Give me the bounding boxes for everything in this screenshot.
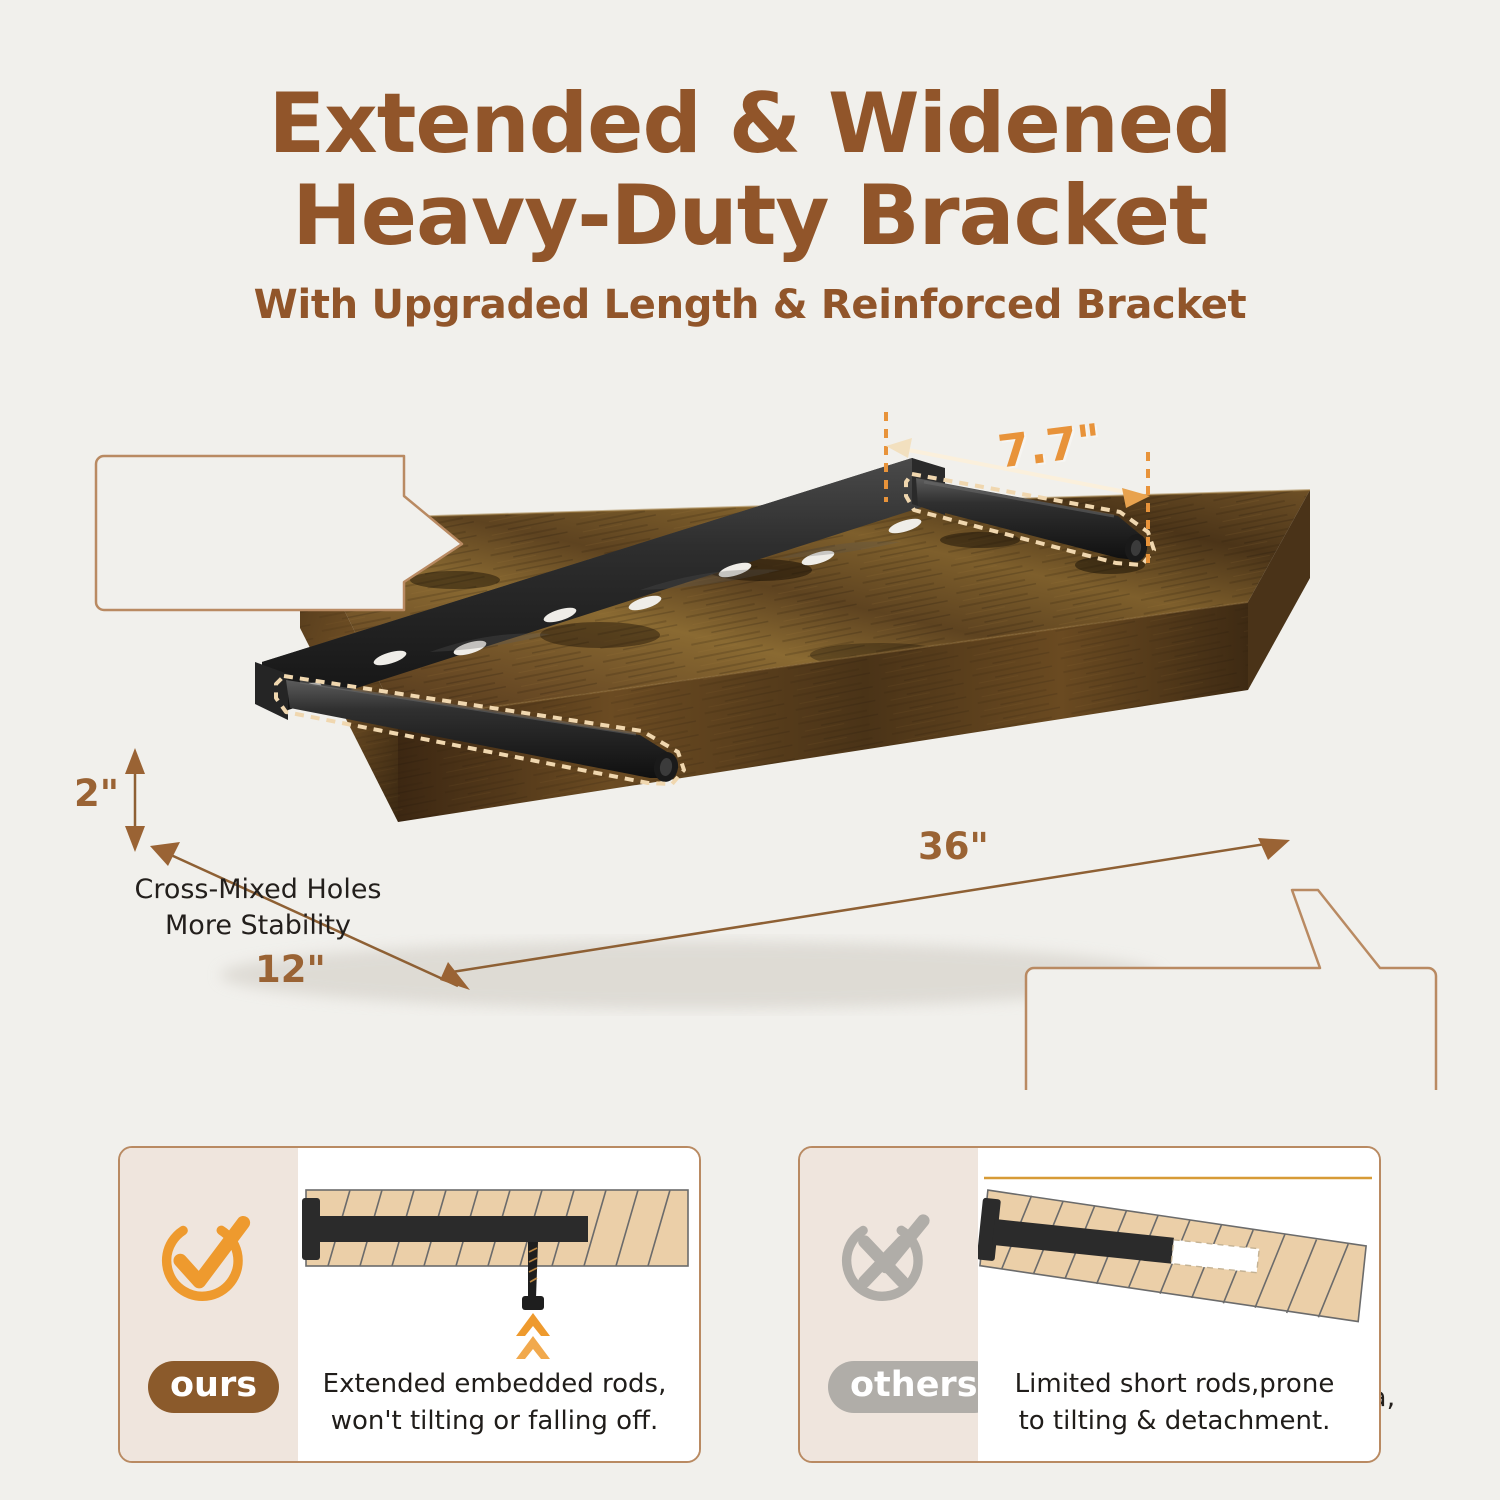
others-body: Limited short rods,prone to tilting & de…	[978, 1148, 1379, 1461]
check-circle-icon	[153, 1206, 258, 1311]
others-wood-section	[978, 1190, 1368, 1322]
others-badge: others	[828, 1361, 1000, 1413]
ours-badge: ours	[148, 1361, 279, 1413]
ours-rod	[316, 1216, 588, 1242]
ours-up-arrows	[516, 1313, 550, 1359]
infographic-root: Extended & Widened Heavy-Duty Bracket Wi…	[0, 0, 1500, 1500]
ours-body: Extended embedded rods, won't tilting or…	[298, 1148, 699, 1461]
others-badge-column: others	[800, 1148, 978, 1461]
comparison-section: ours	[0, 1146, 1500, 1476]
comparison-panel-others: others	[798, 1146, 1381, 1463]
header: Extended & Widened Heavy-Duty Bracket Wi…	[0, 78, 1500, 328]
others-diagram	[978, 1148, 1378, 1368]
x-circle-icon	[833, 1206, 938, 1311]
dimension-2	[125, 748, 145, 852]
shelf-shadow	[220, 941, 1160, 1009]
comparison-panel-ours: ours	[118, 1146, 701, 1463]
ours-caption: Extended embedded rods, won't tilting or…	[298, 1366, 691, 1440]
product-illustration	[0, 390, 1500, 1090]
callout-right-bubble	[1026, 890, 1436, 1090]
others-caption: Limited short rods,prone to tilting & de…	[978, 1366, 1371, 1440]
page-title-line1: Extended & Widened	[0, 78, 1500, 170]
ours-diagram	[298, 1148, 698, 1368]
page-title-line2: Heavy-Duty Bracket	[0, 170, 1500, 262]
page-subtitle: With Upgraded Length & Reinforced Bracke…	[0, 282, 1500, 328]
ours-badge-column: ours	[120, 1148, 298, 1461]
product-hero: Cross-Mixed Holes More Stability Increas…	[0, 390, 1500, 1090]
